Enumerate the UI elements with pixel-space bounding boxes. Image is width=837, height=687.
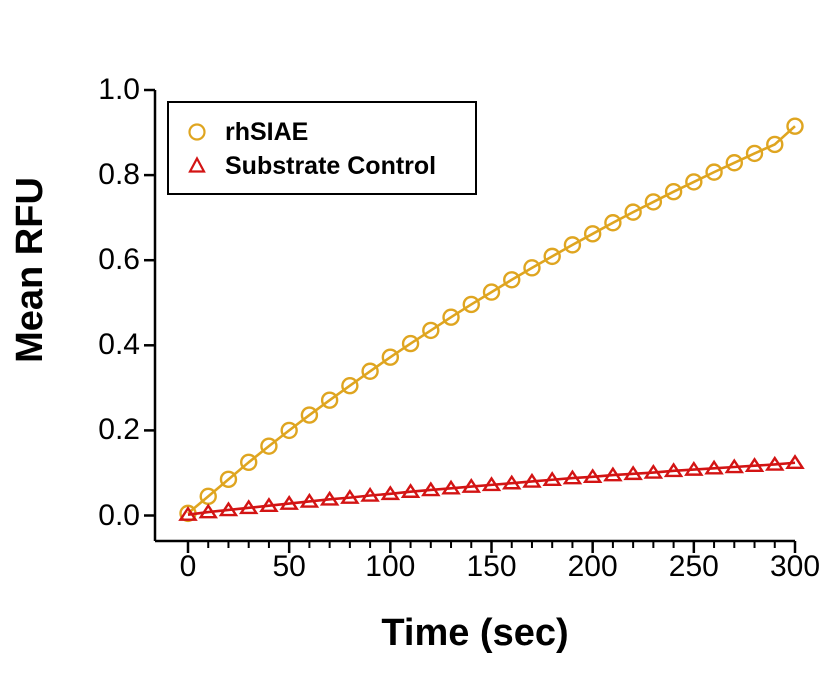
x-tick-label: 100 <box>365 552 415 582</box>
chart-container: Mean RFU 0.00.20.40.60.81.0 050100150200… <box>0 0 837 687</box>
x-tick-label: 0 <box>180 552 197 582</box>
legend-box: rhSIAE Substrate Control <box>167 101 477 195</box>
x-axis-title: Time (sec) <box>155 614 795 652</box>
legend-marker-circle-icon <box>169 119 225 145</box>
x-tick-label: 200 <box>568 552 618 582</box>
x-axis-tick-labels: 050100150200250300 <box>0 552 837 597</box>
x-tick-label: 150 <box>466 552 516 582</box>
x-tick-label: 50 <box>272 552 305 582</box>
legend-entry-rhsiae: rhSIAE <box>169 115 308 149</box>
legend-marker-triangle-icon <box>169 153 225 179</box>
legend-entry-substrate-control: Substrate Control <box>169 149 436 183</box>
data-series-2 <box>180 456 802 519</box>
legend-label-rhsiae: rhSIAE <box>225 120 308 145</box>
legend-label-substrate-control: Substrate Control <box>225 154 436 179</box>
x-tick-label: 300 <box>770 552 820 582</box>
x-tick-label: 250 <box>669 552 719 582</box>
